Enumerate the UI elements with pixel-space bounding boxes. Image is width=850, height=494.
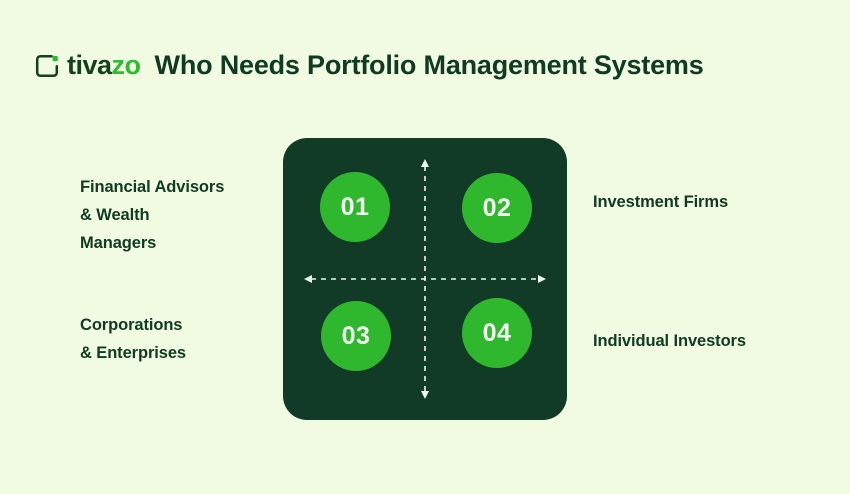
quadrant-label-04: Individual Investors — [593, 327, 833, 355]
brand-name-accent: zo — [112, 50, 141, 80]
infographic-page: tivazo Who Needs Portfolio Management Sy… — [0, 0, 850, 494]
quadrant-number: 03 — [342, 322, 371, 351]
horizontal-dashed-axis-arrow — [303, 272, 547, 286]
brand-name-primary: tiva — [67, 50, 112, 80]
header: tivazo Who Needs Portfolio Management Sy… — [34, 52, 704, 79]
label-line: & Enterprises — [80, 339, 280, 367]
label-line: Managers — [80, 229, 280, 257]
brand-wordmark: tivazo — [67, 52, 141, 79]
brand-logo[interactable]: tivazo — [34, 52, 141, 79]
label-line: Financial Advisors — [80, 173, 280, 201]
quadrant-number: 04 — [483, 319, 512, 348]
quadrant-label-01: Financial Advisors & Wealth Managers — [80, 173, 280, 257]
quadrant-number: 01 — [341, 193, 370, 222]
tivazo-bracket-icon — [34, 53, 60, 79]
quadrant-panel: 01 02 03 04 — [283, 138, 567, 420]
label-line: & Wealth — [80, 201, 280, 229]
label-line: Individual Investors — [593, 327, 833, 355]
quadrant-badge-01[interactable]: 01 — [320, 172, 390, 242]
quadrant-number: 02 — [483, 194, 512, 223]
page-title: Who Needs Portfolio Management Systems — [155, 52, 704, 79]
quadrant-badge-02[interactable]: 02 — [462, 173, 532, 243]
quadrant-badge-04[interactable]: 04 — [462, 298, 532, 368]
quadrant-badge-03[interactable]: 03 — [321, 301, 391, 371]
quadrant-label-03: Corporations & Enterprises — [80, 311, 280, 367]
label-line: Corporations — [80, 311, 280, 339]
label-line: Investment Firms — [593, 188, 833, 216]
quadrant-label-02: Investment Firms — [593, 188, 833, 216]
